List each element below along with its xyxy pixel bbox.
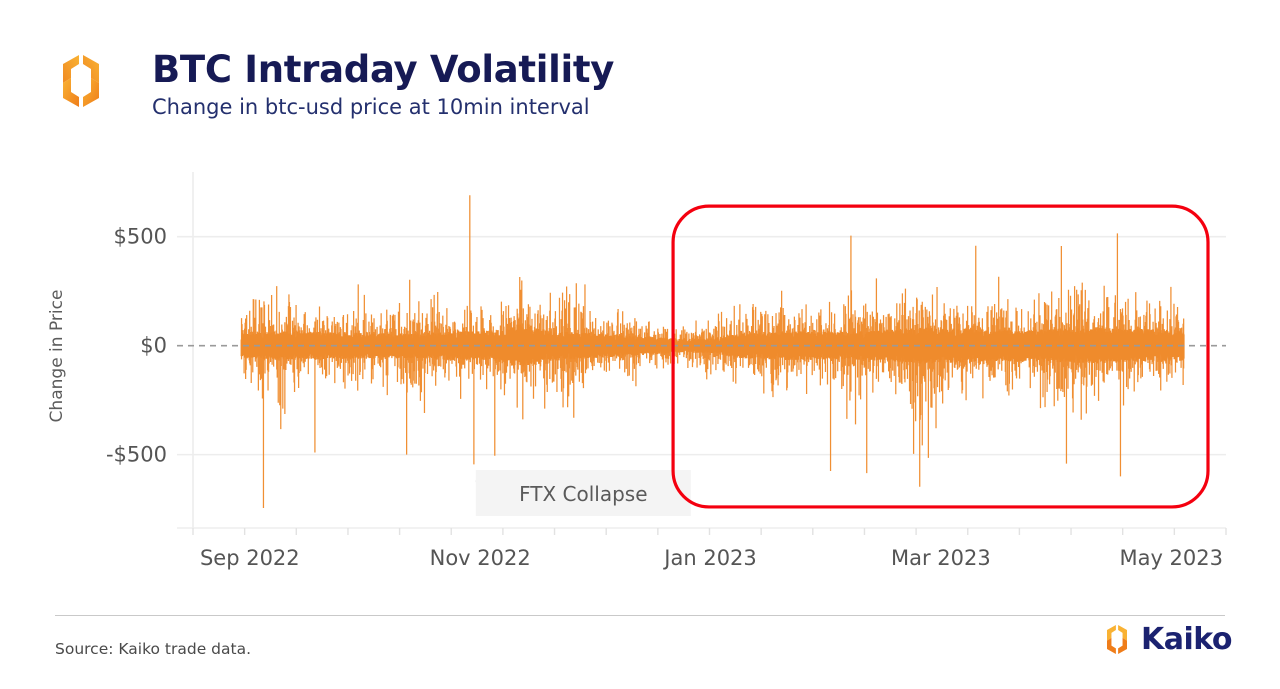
page-title: BTC Intraday Volatility [152, 48, 614, 92]
footer-brand: Kaiko [1102, 623, 1232, 656]
source-note: Source: Kaiko trade data. [55, 640, 251, 658]
page-subtitle: Change in btc-usd price at 10min interva… [152, 93, 614, 121]
x-tick-label: Mar 2023 [891, 546, 991, 570]
y-tick-label: -$500 [106, 443, 167, 467]
ftx-collapse-label: FTX Collapse [519, 482, 647, 506]
ftx-collapse-annotation: FTX Collapse [476, 470, 691, 516]
x-axis-tick-labels: Sep 2022Nov 2022Jan 2023Mar 2023May 2023 [200, 546, 1223, 570]
kaiko-logo-icon [1102, 623, 1132, 656]
price-change-series [242, 195, 1184, 508]
x-tick-label: Nov 2022 [430, 546, 531, 570]
brand-wordmark: Kaiko [1141, 625, 1232, 655]
chart-container: Change in Price FTX Collapse $500$0-$500… [0, 150, 1280, 590]
title-block: BTC Intraday Volatility Change in btc-us… [152, 48, 614, 121]
axis-ticks [193, 528, 1226, 535]
chart-footer: Source: Kaiko trade data. Kaiko [0, 590, 1280, 689]
kaiko-logo-icon [54, 52, 108, 110]
y-axis-tick-labels: $500$0-$500 [106, 225, 167, 467]
x-tick-label: Jan 2023 [662, 546, 757, 570]
volatility-chart: FTX Collapse $500$0-$500 Sep 2022Nov 202… [0, 150, 1280, 590]
x-tick-label: May 2023 [1119, 546, 1223, 570]
y-tick-label: $500 [114, 225, 167, 249]
chart-header: BTC Intraday Volatility Change in btc-us… [0, 0, 1280, 150]
y-axis-title: Change in Price [47, 266, 67, 446]
x-tick-label: Sep 2022 [200, 546, 300, 570]
footer-divider [55, 615, 1225, 616]
y-tick-label: $0 [140, 334, 167, 358]
